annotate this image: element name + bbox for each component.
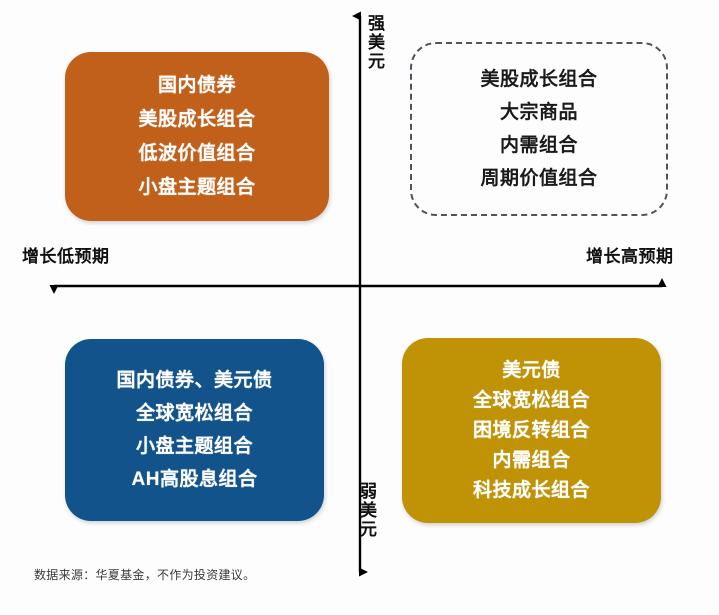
quadrant-item: 小盘主题组合	[136, 437, 253, 456]
quadrant-item: AH高股息组合	[132, 470, 258, 489]
axis-label-growth-low: 增长低预期	[22, 242, 110, 267]
quadrant-item: 小盘主题组合	[138, 178, 255, 197]
quadrant-item: 国内债券、美元债	[116, 371, 272, 390]
quadrant-matrix-diagram: 增长低预期 增长高预期 强美元 弱美元 国内债券 美股成长组合 低波价值组合 小…	[0, 0, 719, 615]
quadrant-item: 全球宽松组合	[473, 391, 590, 410]
quadrant-item: 美元债	[502, 361, 561, 380]
axis-label-weak-dollar: 弱美元	[358, 482, 375, 539]
axis-label-strong-dollar: 强美元	[366, 14, 383, 71]
quadrant-item: 美股成长组合	[480, 70, 597, 89]
quadrant-item: 大宗商品	[500, 103, 578, 122]
quadrant-item: 全球宽松组合	[136, 404, 253, 423]
quadrant-item: 美股成长组合	[138, 110, 255, 129]
quadrant-item: 低波价值组合	[138, 144, 255, 163]
quadrant-item: 内需组合	[500, 136, 578, 155]
quadrant-box-bottom-right: 美元债 全球宽松组合 困境反转组合 内需组合 科技成长组合	[402, 338, 661, 523]
quadrant-item: 科技成长组合	[473, 481, 590, 500]
quadrant-item: 国内债券	[158, 76, 236, 95]
quadrant-item: 困境反转组合	[473, 421, 590, 440]
quadrant-box-top-right: 美股成长组合 大宗商品 内需组合 周期价值组合	[410, 42, 668, 216]
source-note: 数据来源：华夏基金，不作为投资建议。	[34, 566, 255, 583]
quadrant-item: 内需组合	[492, 451, 570, 470]
quadrant-box-top-left: 国内债券 美股成长组合 低波价值组合 小盘主题组合	[65, 52, 329, 221]
axis-label-growth-high: 增长高预期	[586, 242, 674, 267]
quadrant-box-bottom-left: 国内债券、美元债 全球宽松组合 小盘主题组合 AH高股息组合	[65, 339, 324, 521]
quadrant-item: 周期价值组合	[480, 169, 597, 188]
